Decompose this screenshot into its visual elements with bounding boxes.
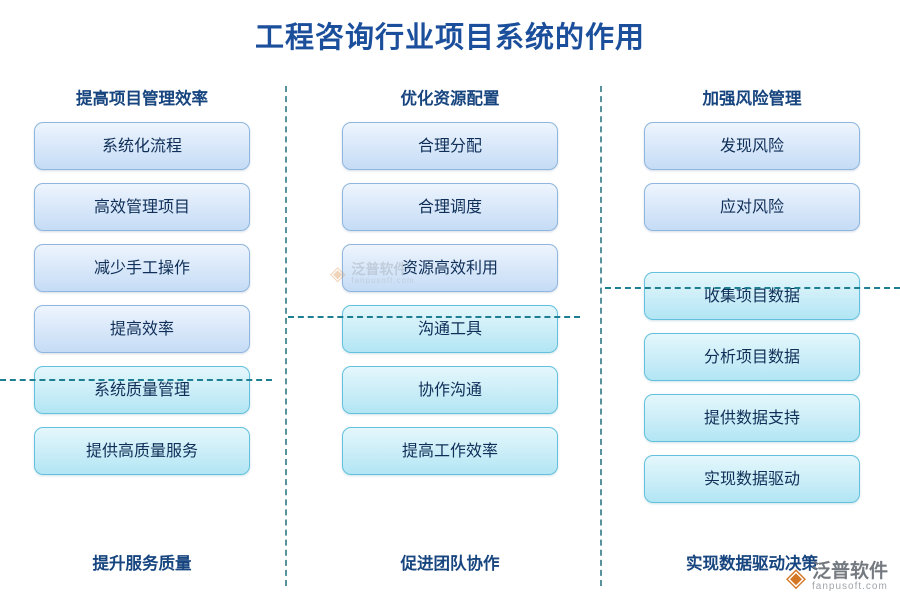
column-2: 优化资源配置 合理分配 合理调度 资源高效利用 沟通工具 协作沟通 提高工作效率 (320, 88, 580, 110)
list-item[interactable]: 系统质量管理 (34, 366, 250, 414)
list-item[interactable]: 提供数据支持 (644, 394, 860, 442)
list-item[interactable]: 合理调度 (342, 183, 558, 231)
column-3-heading: 加强风险管理 (622, 88, 882, 110)
horizontal-divider-3 (605, 287, 900, 289)
column-3-footer: 实现数据驱动决策 (622, 550, 882, 574)
list-item[interactable]: 协作沟通 (342, 366, 558, 414)
list-item[interactable]: 提供高质量服务 (34, 427, 250, 475)
list-item[interactable]: 合理分配 (342, 122, 558, 170)
horizontal-divider-1 (0, 379, 272, 381)
horizontal-divider-2 (288, 316, 580, 318)
column-1: 提高项目管理效率 系统化流程 高效管理项目 减少手工操作 提高效率 系统质量管理… (12, 88, 272, 110)
column-1-footer: 提升服务质量 (12, 550, 272, 574)
list-item[interactable]: 提高工作效率 (342, 427, 558, 475)
list-item[interactable]: 减少手工操作 (34, 244, 250, 292)
vertical-divider-1 (285, 86, 287, 586)
column-1-heading: 提高项目管理效率 (12, 88, 272, 110)
list-item[interactable]: 高效管理项目 (34, 183, 250, 231)
vertical-divider-2 (600, 86, 602, 586)
list-item[interactable]: 应对风险 (644, 183, 860, 231)
diagram-canvas: 工程咨询行业项目系统的作用 提高项目管理效率 系统化流程 高效管理项目 减少手工… (0, 0, 900, 600)
list-item[interactable]: 收集项目数据 (644, 272, 860, 320)
list-item[interactable]: 系统化流程 (34, 122, 250, 170)
watermark-url: fanpusoft.com (812, 582, 888, 593)
column-2-footer: 促进团队协作 (320, 550, 580, 574)
list-item[interactable]: 资源高效利用 (342, 244, 558, 292)
list-item[interactable]: 实现数据驱动 (644, 455, 860, 503)
list-item[interactable]: 分析项目数据 (644, 333, 860, 381)
column-3: 加强风险管理 发现风险 应对风险 收集项目数据 分析项目数据 提供数据支持 实现… (622, 88, 882, 110)
list-item[interactable]: 沟通工具 (342, 305, 558, 353)
page-title: 工程咨询行业项目系统的作用 (0, 14, 900, 56)
list-item[interactable]: 发现风险 (644, 122, 860, 170)
list-item[interactable]: 提高效率 (34, 305, 250, 353)
column-2-heading: 优化资源配置 (320, 88, 580, 110)
